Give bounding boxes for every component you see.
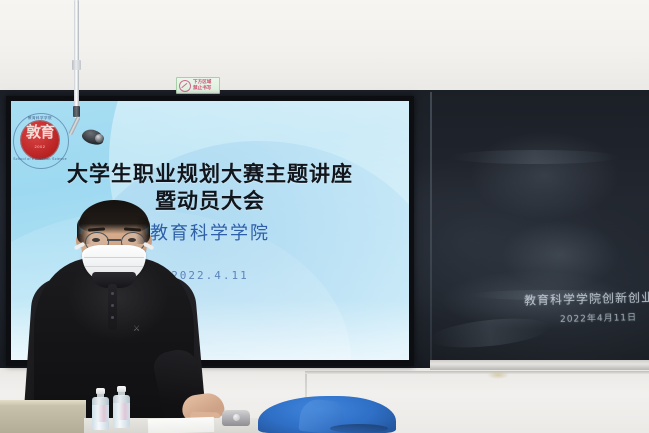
eyeglasses-bridge xyxy=(107,239,121,241)
seal-glyph: 敦育 xyxy=(21,124,59,140)
no-writing-sign: 下方区域 禁止书写 xyxy=(176,77,220,94)
slide-title-line-1: 大学生职业规划大赛主题讲座 xyxy=(67,162,353,186)
warning-line-1: 下方区域 xyxy=(193,80,211,85)
water-bottle-1 xyxy=(92,388,109,430)
podium-top-surface xyxy=(0,400,86,405)
camera-lens-icon xyxy=(95,134,104,143)
bottle-cap xyxy=(96,388,105,394)
device-button-icon xyxy=(233,414,240,421)
bottle-cap xyxy=(117,386,126,392)
sweater-button-2 xyxy=(111,304,114,307)
wall-stain xyxy=(487,371,509,379)
jacket-shadow xyxy=(330,424,388,433)
chalk-tray xyxy=(430,360,649,370)
sweater-button-1 xyxy=(111,292,114,295)
warning-line-2: 禁止书写 xyxy=(193,86,211,91)
photo-scene: 教育科学学院创新创业 2022年4月11日 下方区域 禁止书写 教育科学学院 敦… xyxy=(0,0,649,433)
water-bottle-2 xyxy=(113,386,130,428)
bottle-label xyxy=(113,403,130,420)
ceiling-pole xyxy=(74,0,79,118)
chalk-text-date: 2022年4月11日 xyxy=(560,310,637,325)
bottle-label xyxy=(92,405,109,422)
bottle-neck xyxy=(118,392,125,396)
pole-clip xyxy=(73,106,80,117)
bottle-neck xyxy=(97,394,104,398)
sweater-placket xyxy=(108,284,117,330)
face-mask-fold-2 xyxy=(85,266,143,267)
face-mask-fold-1 xyxy=(84,257,144,258)
seal-year: 2002 xyxy=(21,144,59,149)
chalk-text-title: 教育科学学院创新创业 xyxy=(524,288,649,308)
upper-wall xyxy=(0,0,649,92)
papers-stack xyxy=(148,417,214,433)
wall-ledge xyxy=(305,371,649,374)
pole-joint xyxy=(72,60,81,70)
prohibition-icon xyxy=(179,80,191,92)
sweater-button-3 xyxy=(111,316,114,319)
sweater-logo-icon: ⚔ xyxy=(133,324,141,333)
blackboard-seam xyxy=(430,92,432,366)
